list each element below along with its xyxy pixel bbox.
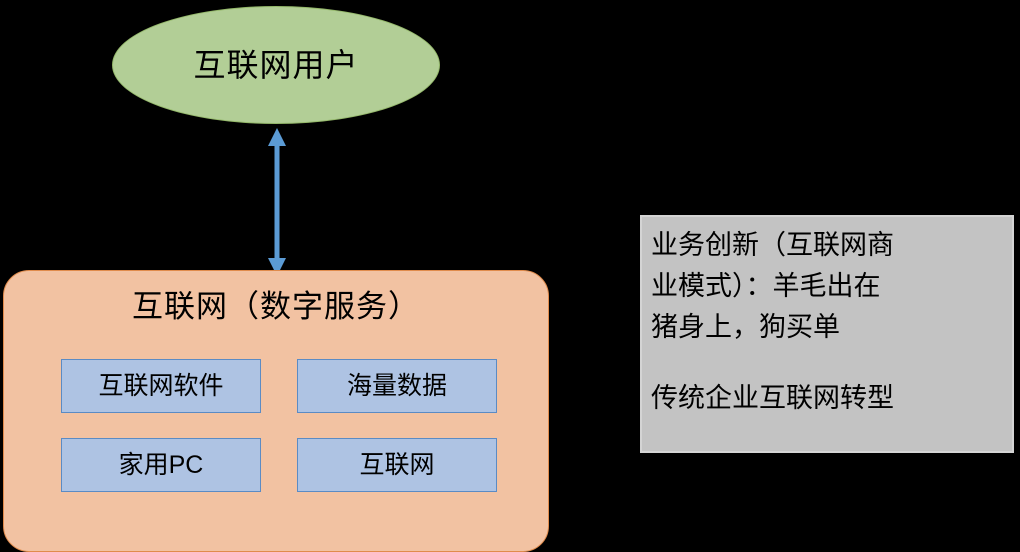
node-internet-platform[interactable]: 互联网（数字服务） 互联网软件 海量数据 家用PC 互联网 — [3, 270, 549, 552]
tile-label: 互联网软件 — [98, 374, 223, 399]
node-internet-users[interactable]: 互联网用户 — [112, 6, 440, 124]
node-internet-users-label: 互联网用户 — [193, 49, 358, 81]
platform-tile-row: 互联网软件 海量数据 — [61, 359, 497, 413]
note-panel[interactable]: 业务创新（互联网商 业模式）：羊毛出在 猪身上，狗买单 传统企业互联网转型 — [640, 215, 1014, 453]
tile-internet-software[interactable]: 互联网软件 — [61, 359, 261, 413]
tile-massive-data[interactable]: 海量数据 — [297, 359, 497, 413]
tile-internet[interactable]: 互联网 — [297, 438, 497, 492]
tile-home-pc[interactable]: 家用PC — [61, 438, 261, 492]
note-line-spacer — [651, 348, 1012, 378]
tile-label: 海量数据 — [347, 374, 447, 399]
note-line: 猪身上，狗买单 — [651, 307, 1012, 348]
platform-title: 互联网（数字服务） — [4, 291, 548, 322]
tile-label: 互联网 — [359, 453, 434, 478]
platform-tile-grid: 互联网软件 海量数据 家用PC 互联网 — [61, 359, 497, 517]
note-line: 业模式）：羊毛出在 — [651, 266, 1012, 307]
double-arrow-icon — [255, 126, 299, 278]
connector-users-to-platform — [255, 126, 299, 278]
note-line: 传统企业互联网转型 — [651, 378, 1012, 419]
tile-label: 家用PC — [119, 453, 204, 478]
diagram-canvas: 互联网用户 互联网（数字服务） 互联网软件 海量数据 家用PC — [0, 0, 1020, 552]
note-line: 业务创新（互联网商 — [651, 225, 1012, 266]
platform-tile-row: 家用PC 互联网 — [61, 438, 497, 492]
